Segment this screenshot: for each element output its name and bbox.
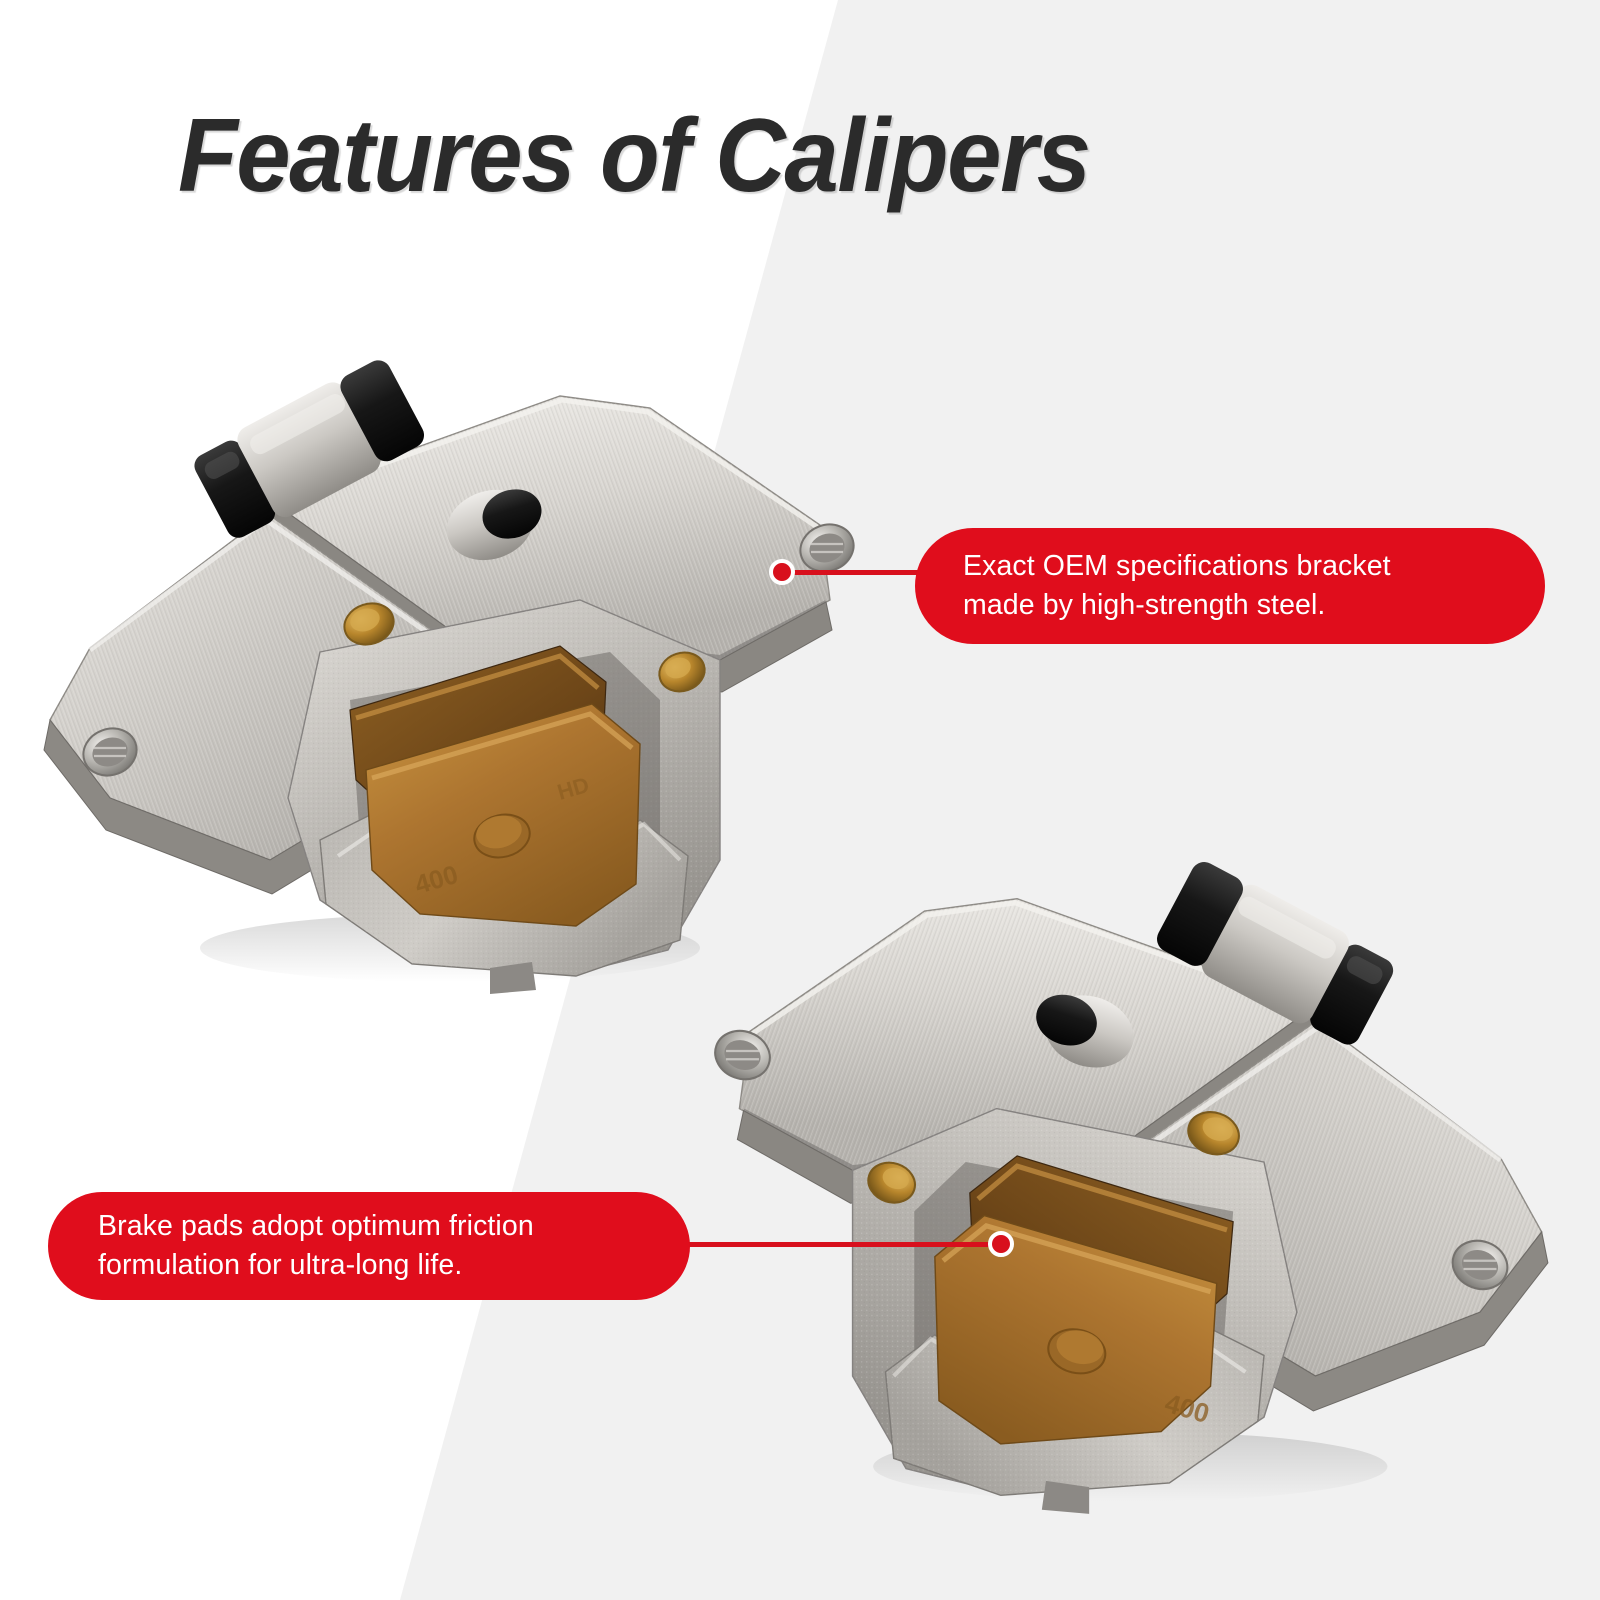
callout-anchor-dot-pads [988, 1231, 1014, 1257]
callout-badge-pads: Brake pads adopt optimum friction formul… [48, 1192, 690, 1300]
callout-text-pads: Brake pads adopt optimum friction formul… [98, 1207, 534, 1286]
callout-anchor-dot-bracket [769, 559, 795, 585]
callout-leader-line-pads [682, 1242, 1004, 1247]
callout-leader-line-bracket [780, 570, 925, 575]
infographic-page: Features of Calipers [0, 0, 1600, 1600]
callout-text-bracket: Exact OEM specifications bracket made by… [963, 547, 1391, 626]
callout-badge-bracket: Exact OEM specifications bracket made by… [915, 528, 1545, 644]
page-title: Features of Calipers [178, 104, 1090, 208]
product-photo-caliper-right: 400 [640, 800, 1600, 1520]
